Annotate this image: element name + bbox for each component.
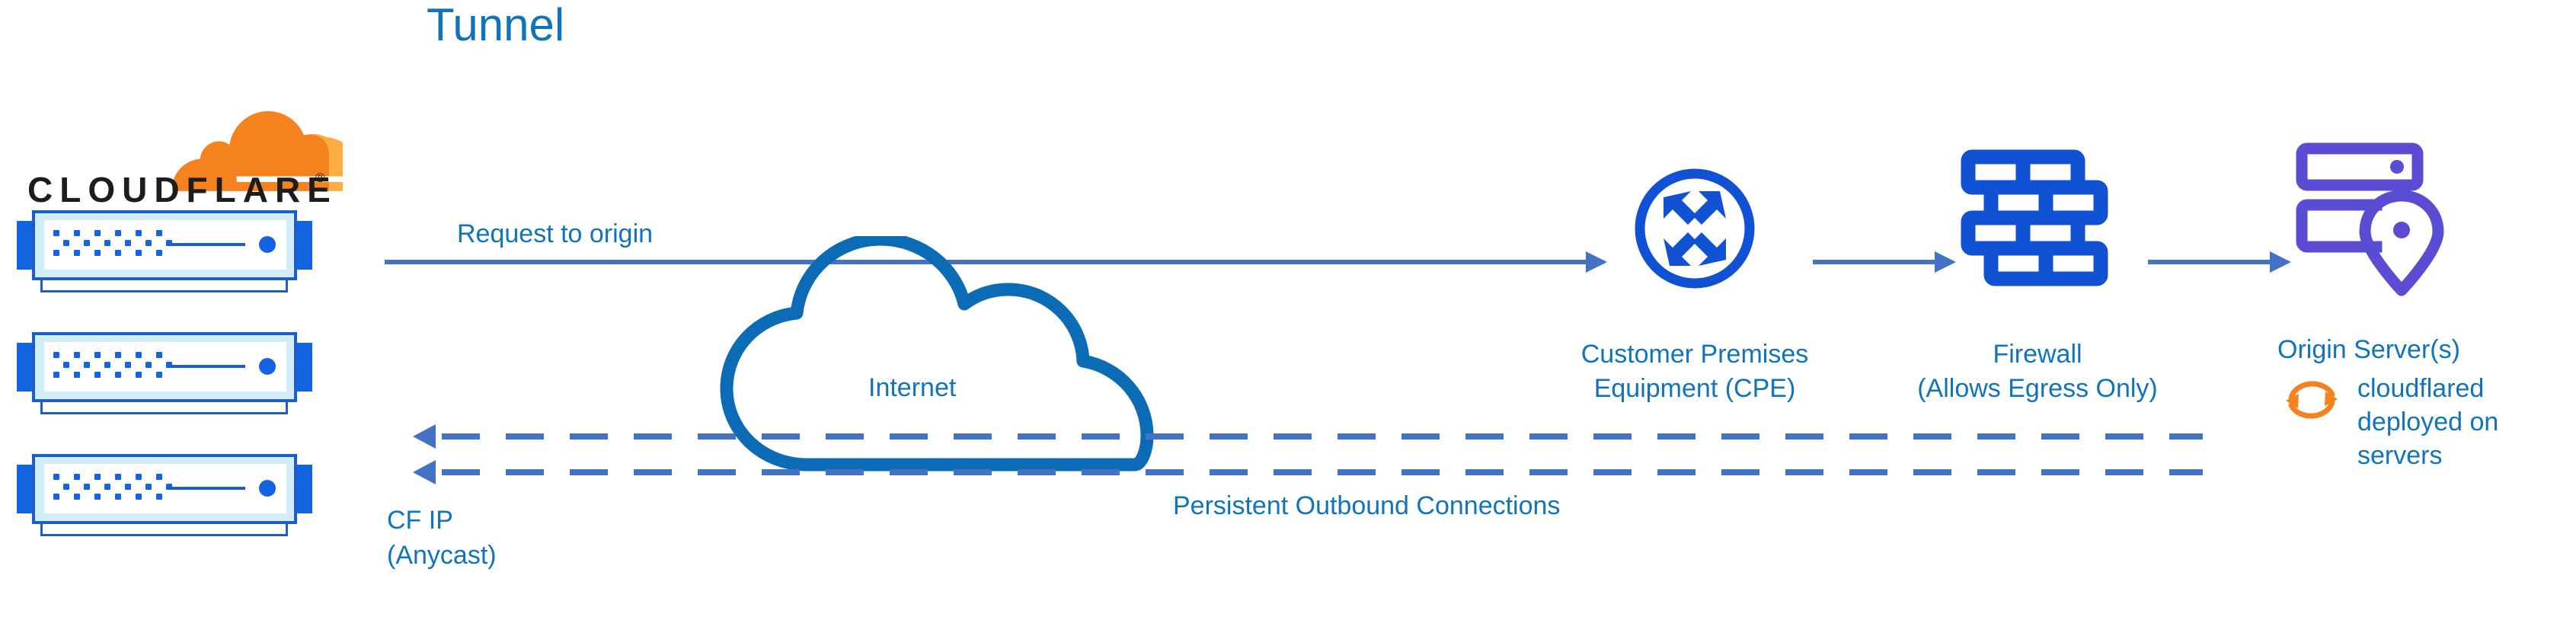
persistent-connection-arrow-head-icon	[413, 460, 436, 484]
firewall-label: Firewall (Allows Egress Only)	[1866, 337, 2209, 406]
server-rack-icon	[0, 329, 328, 420]
firewall-to-origin-arrow-head-icon	[2270, 251, 2291, 273]
request-arrow-head-icon	[1586, 251, 1607, 273]
rack-panel	[44, 220, 286, 270]
persistent-connection-dashed-line	[442, 433, 2203, 440]
rack-base	[40, 280, 288, 293]
firewall-label-line1: Firewall	[1866, 337, 2209, 372]
cloudflared-label-line1: cloudflared	[2357, 372, 2540, 405]
cloudflared-label-line2: deployed on	[2357, 405, 2540, 439]
server-location-pin-icon	[2293, 141, 2445, 301]
firewall-label-line2: (Allows Egress Only)	[1866, 372, 2209, 406]
cpe-to-firewall-arrow-head-icon	[1935, 251, 1956, 273]
cf-ip-line1: CF IP	[387, 503, 497, 538]
origin-server-label: Origin Server(s)	[2277, 335, 2460, 365]
cf-ip-line2: (Anycast)	[387, 538, 497, 573]
cf-ip-anycast-label: CF IP (Anycast)	[387, 503, 497, 573]
cloudflare-wordmark: CLOUDFLARE	[27, 169, 337, 210]
firewall-to-origin-arrow-line	[2148, 260, 2281, 264]
router-four-arrows-icon	[1630, 164, 1759, 293]
cloud-icon	[708, 236, 1165, 488]
rack-status-dot	[259, 236, 276, 253]
internet-label: Internet	[868, 373, 956, 403]
sync-circular-arrows-icon	[2281, 373, 2342, 427]
persistent-connection-arrow-head-icon	[413, 424, 436, 449]
rack-indicator-line	[169, 243, 245, 246]
cpe-to-firewall-arrow-line	[1813, 260, 1946, 264]
rack-base	[40, 524, 288, 536]
cloudflared-label: cloudflared deployed on servers	[2357, 372, 2540, 472]
rack-status-dot	[259, 358, 276, 375]
server-rack-icon	[0, 207, 328, 299]
rack-panel	[44, 342, 286, 392]
tunnel-diagram-canvas: Tunnel CLOUDFLARE ®	[0, 0, 2576, 617]
persistent-connection-dashed-line	[442, 469, 2203, 475]
rack-status-dot	[259, 480, 276, 497]
registered-trademark-icon: ®	[315, 171, 325, 186]
cpe-label-line2: Equipment (CPE)	[1520, 372, 1870, 406]
request-to-origin-label: Request to origin	[457, 219, 653, 249]
server-rack-icon	[0, 451, 328, 542]
cpe-label: Customer Premises Equipment (CPE)	[1520, 337, 1870, 406]
page-title: Tunnel	[427, 0, 564, 51]
rack-indicator-line	[169, 365, 245, 368]
cloudflared-label-line3: servers	[2357, 439, 2540, 472]
rack-base	[40, 402, 288, 414]
brick-wall-icon	[1958, 145, 2110, 297]
rack-panel	[44, 464, 286, 513]
rack-indicator-line	[169, 487, 245, 490]
cpe-label-line1: Customer Premises	[1520, 337, 1870, 372]
persistent-outbound-connections-label: Persistent Outbound Connections	[1173, 491, 1560, 521]
